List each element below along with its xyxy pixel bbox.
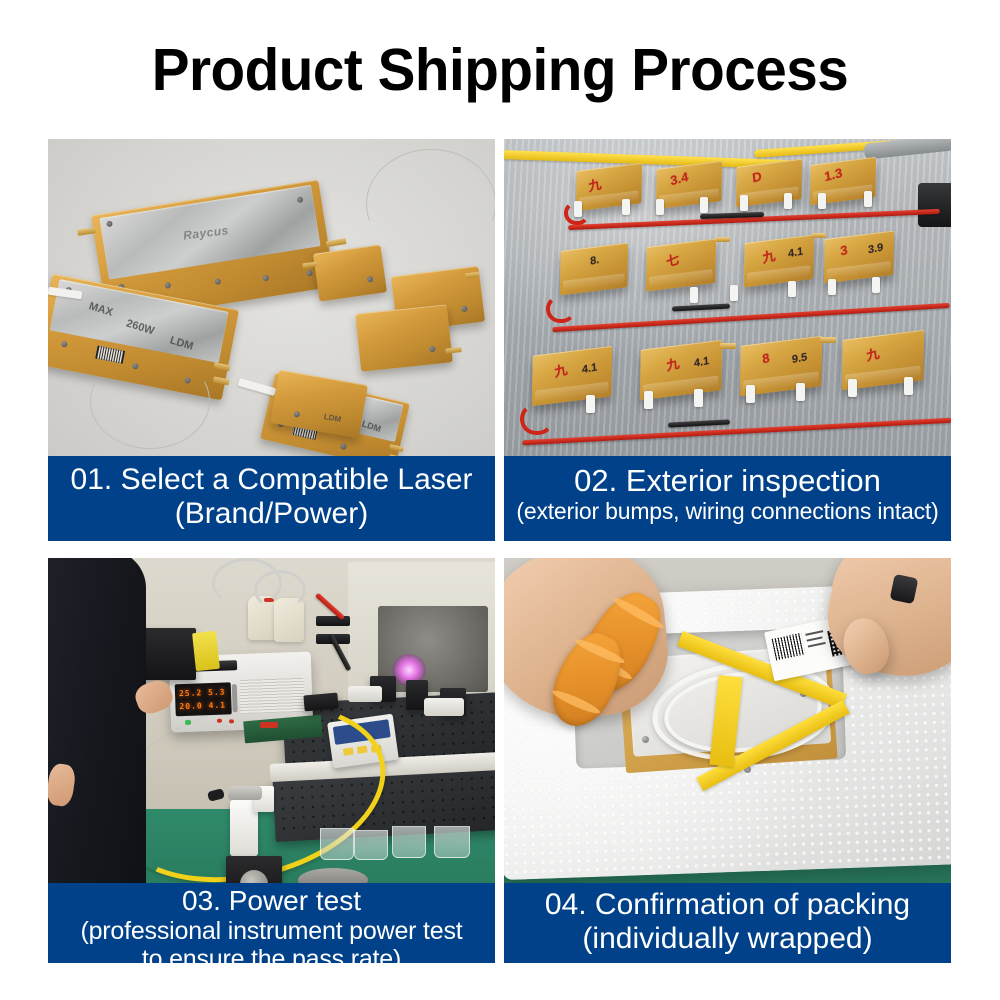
caption-line-2: (exterior bumps, wiring connections inta… xyxy=(508,498,947,524)
step-panel-02[interactable]: 九 3.4 D 1.3 xyxy=(504,139,951,541)
optic-mount xyxy=(424,698,464,716)
step-photo-03: 25.2 5.3 20.0 4.1 xyxy=(48,558,495,963)
psu-display-top: 25.2 5.3 xyxy=(179,688,226,699)
caption-line-1: 03. Power test xyxy=(52,885,491,917)
step-photo-02: 九 3.4 D 1.3 xyxy=(504,139,951,541)
step-panel-03[interactable]: 25.2 5.3 20.0 4.1 xyxy=(48,558,495,963)
laser-module-small-3 xyxy=(355,304,453,371)
caption-line-1: 01. Select a Compatible Laser xyxy=(52,463,491,497)
module-r2c4: 3 3.9 xyxy=(824,231,894,284)
page-root: Product Shipping Process Raycus xyxy=(0,0,1000,1000)
caption-line-1: 04. Confirmation of packing xyxy=(508,888,947,922)
module-r2c2: 七 xyxy=(646,239,716,292)
caption-line-2: (professional instrument power test xyxy=(52,917,491,946)
module-r1c2: 3.4 xyxy=(656,161,722,209)
wall-cable xyxy=(254,570,306,610)
step-panel-04[interactable]: 04. Confirmation of packing (individuall… xyxy=(504,558,951,963)
module-r2c3: 九 4.1 xyxy=(744,235,814,288)
step-caption-03: 03. Power test (professional instrument … xyxy=(48,883,495,963)
yellow-folder xyxy=(192,631,220,671)
caption-line-1: 02. Exterior inspection xyxy=(508,463,947,498)
psu-display-bottom: 20.0 4.1 xyxy=(179,701,226,712)
laser-module-small-1 xyxy=(313,245,387,302)
caption-line-2: (Brand/Power) xyxy=(52,497,491,531)
step-photo-04: 04. Confirmation of packing (individuall… xyxy=(504,558,951,963)
step-panel-01[interactable]: Raycus MAX 260W LDM xyxy=(48,139,495,541)
process-step-grid: Raycus MAX 260W LDM xyxy=(48,139,951,963)
caption-line-3: to ensure the pass rate) xyxy=(52,945,491,963)
module-r2c1: 8. xyxy=(560,243,628,296)
step-caption-02: 02. Exterior inspection (exterior bumps,… xyxy=(504,456,951,541)
optic-mount xyxy=(348,686,382,702)
step-photo-01: Raycus MAX 260W LDM xyxy=(48,139,495,541)
caption-line-2: (individually wrapped) xyxy=(508,922,947,956)
step-caption-01: 01. Select a Compatible Laser (Brand/Pow… xyxy=(48,456,495,541)
page-title: Product Shipping Process xyxy=(20,38,980,102)
step-caption-04: 04. Confirmation of packing (individuall… xyxy=(504,883,951,963)
terminal-block xyxy=(316,616,350,626)
connector-block xyxy=(918,183,951,227)
bottle-cap xyxy=(228,786,262,800)
module-r3c1: 九 4.1 xyxy=(532,346,612,406)
